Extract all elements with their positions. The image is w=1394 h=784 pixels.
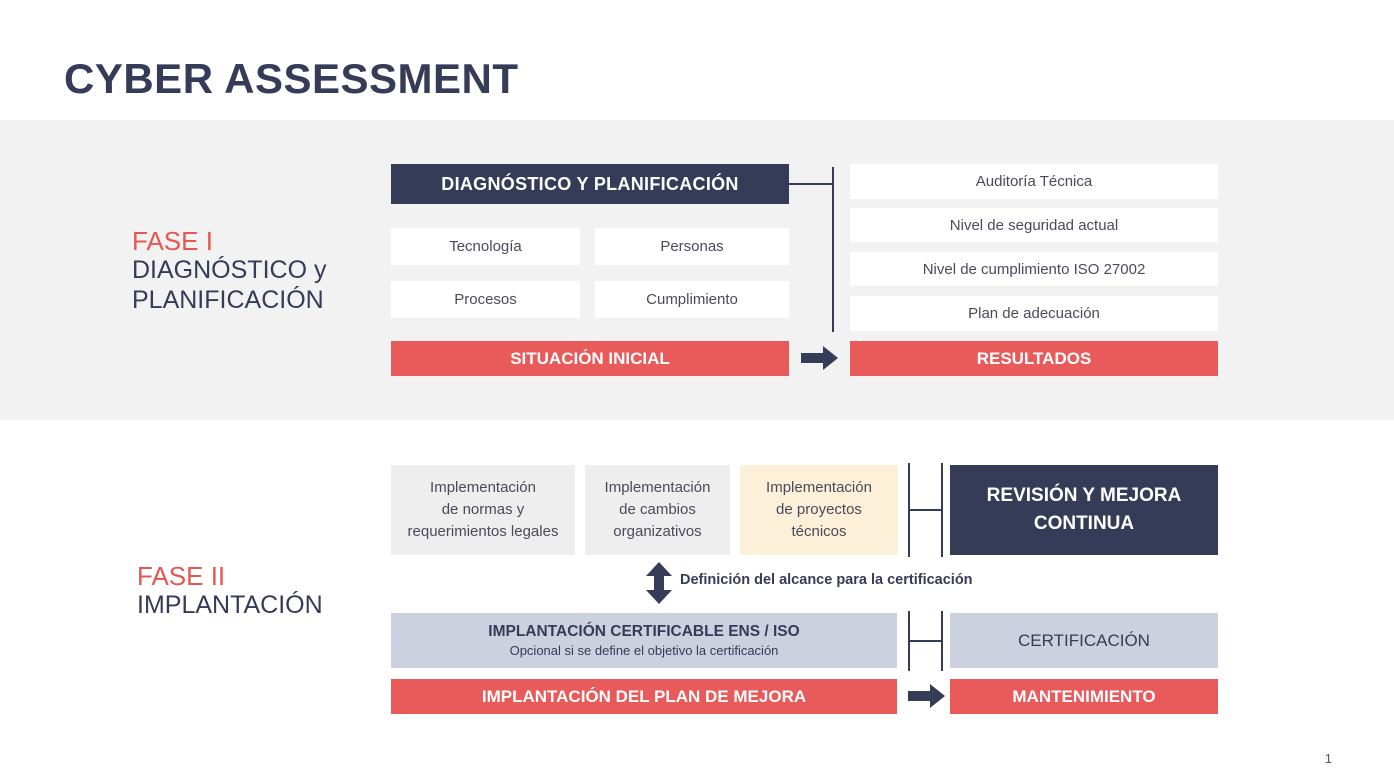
subbox-cumplimiento[interactable]: Cumplimiento [595, 281, 789, 318]
impl-cambios-line3: organizativos [605, 521, 711, 543]
phase2-connector-b-right-line [941, 611, 943, 671]
impl-proyectos-line2: de proyectos [766, 499, 872, 521]
implementation-box-proyectos[interactable]: Implementación de proyectos técnicos [740, 465, 898, 555]
subbox-tecnologia[interactable]: Tecnología [391, 228, 580, 265]
revision-line2: CONTINUA [987, 510, 1182, 539]
bar-implantacion-plan-mejora[interactable]: IMPLANTACIÓN DEL PLAN DE MEJORA [391, 679, 897, 714]
impl-proyectos-line3: técnicos [766, 521, 872, 543]
diagnostico-header-box[interactable]: DIAGNÓSTICO Y PLANIFICACIÓN [391, 164, 789, 204]
cert-box-subtitle: Opcional si se define el objetivo la cer… [510, 643, 779, 658]
revision-mejora-continua-box[interactable]: REVISIÓN Y MEJORA CONTINUA [950, 465, 1218, 555]
phase1-connector-horizontal-line [789, 183, 834, 185]
result-item-nivel-seguridad[interactable]: Nivel de seguridad actual [850, 208, 1218, 242]
implementation-box-normas[interactable]: Implementación de normas y requerimiento… [391, 465, 575, 555]
phase2-number: FASE II [137, 561, 323, 591]
impl-cambios-line2: de cambios [605, 499, 711, 521]
phase1-connector-vertical-line [832, 167, 834, 332]
phase2-label: FASE II IMPLANTACIÓN [137, 561, 323, 621]
implantacion-certificable-box[interactable]: IMPLANTACIÓN CERTIFICABLE ENS / ISO Opci… [391, 613, 897, 668]
phase1-name-line2: PLANIFICACIÓN [132, 286, 326, 315]
scope-definition-text: Definición del alcance para la certifica… [680, 572, 973, 588]
result-item-plan-adecuacion[interactable]: Plan de adecuación [850, 296, 1218, 331]
page-number: 1 [1325, 751, 1332, 766]
subbox-personas[interactable]: Personas [595, 228, 789, 265]
impl-proyectos-line1: Implementación [766, 477, 872, 499]
result-item-nivel-cumplimiento[interactable]: Nivel de cumplimiento ISO 27002 [850, 252, 1218, 286]
arrow-up-down-icon [645, 562, 673, 604]
phase2-name-line1: IMPLANTACIÓN [137, 591, 323, 620]
impl-normas-line3: requerimientos legales [408, 521, 559, 543]
phase1-number: FASE I [132, 226, 326, 256]
bar-situacion-inicial[interactable]: SITUACIÓN INICIAL [391, 341, 789, 376]
page-title: CYBER ASSESSMENT [64, 55, 519, 103]
result-item-auditoria-tecnica[interactable]: Auditoría Técnica [850, 164, 1218, 199]
arrow-right-icon-phase1 [801, 345, 839, 371]
impl-cambios-line1: Implementación [605, 477, 711, 499]
arrow-right-icon-phase2 [908, 683, 946, 709]
phase2-connector-a-right-line [941, 463, 943, 557]
impl-normas-line1: Implementación [408, 477, 559, 499]
phase1-label: FASE I DIAGNÓSTICO y PLANIFICACIÓN [132, 226, 326, 315]
phase2-connector-a-bar [908, 509, 943, 511]
bar-resultados[interactable]: RESULTADOS [850, 341, 1218, 376]
subbox-procesos[interactable]: Procesos [391, 281, 580, 318]
implementation-box-cambios[interactable]: Implementación de cambios organizativos [585, 465, 730, 555]
certificacion-box[interactable]: CERTIFICACIÓN [950, 613, 1218, 668]
phase1-name-line1: DIAGNÓSTICO y [132, 256, 326, 285]
phase2-connector-b-bar [908, 640, 943, 642]
revision-line1: REVISIÓN Y MEJORA [987, 482, 1182, 511]
impl-normas-line2: de normas y [408, 499, 559, 521]
bar-mantenimiento[interactable]: MANTENIMIENTO [950, 679, 1218, 714]
cert-box-title: IMPLANTACIÓN CERTIFICABLE ENS / ISO [488, 623, 799, 641]
